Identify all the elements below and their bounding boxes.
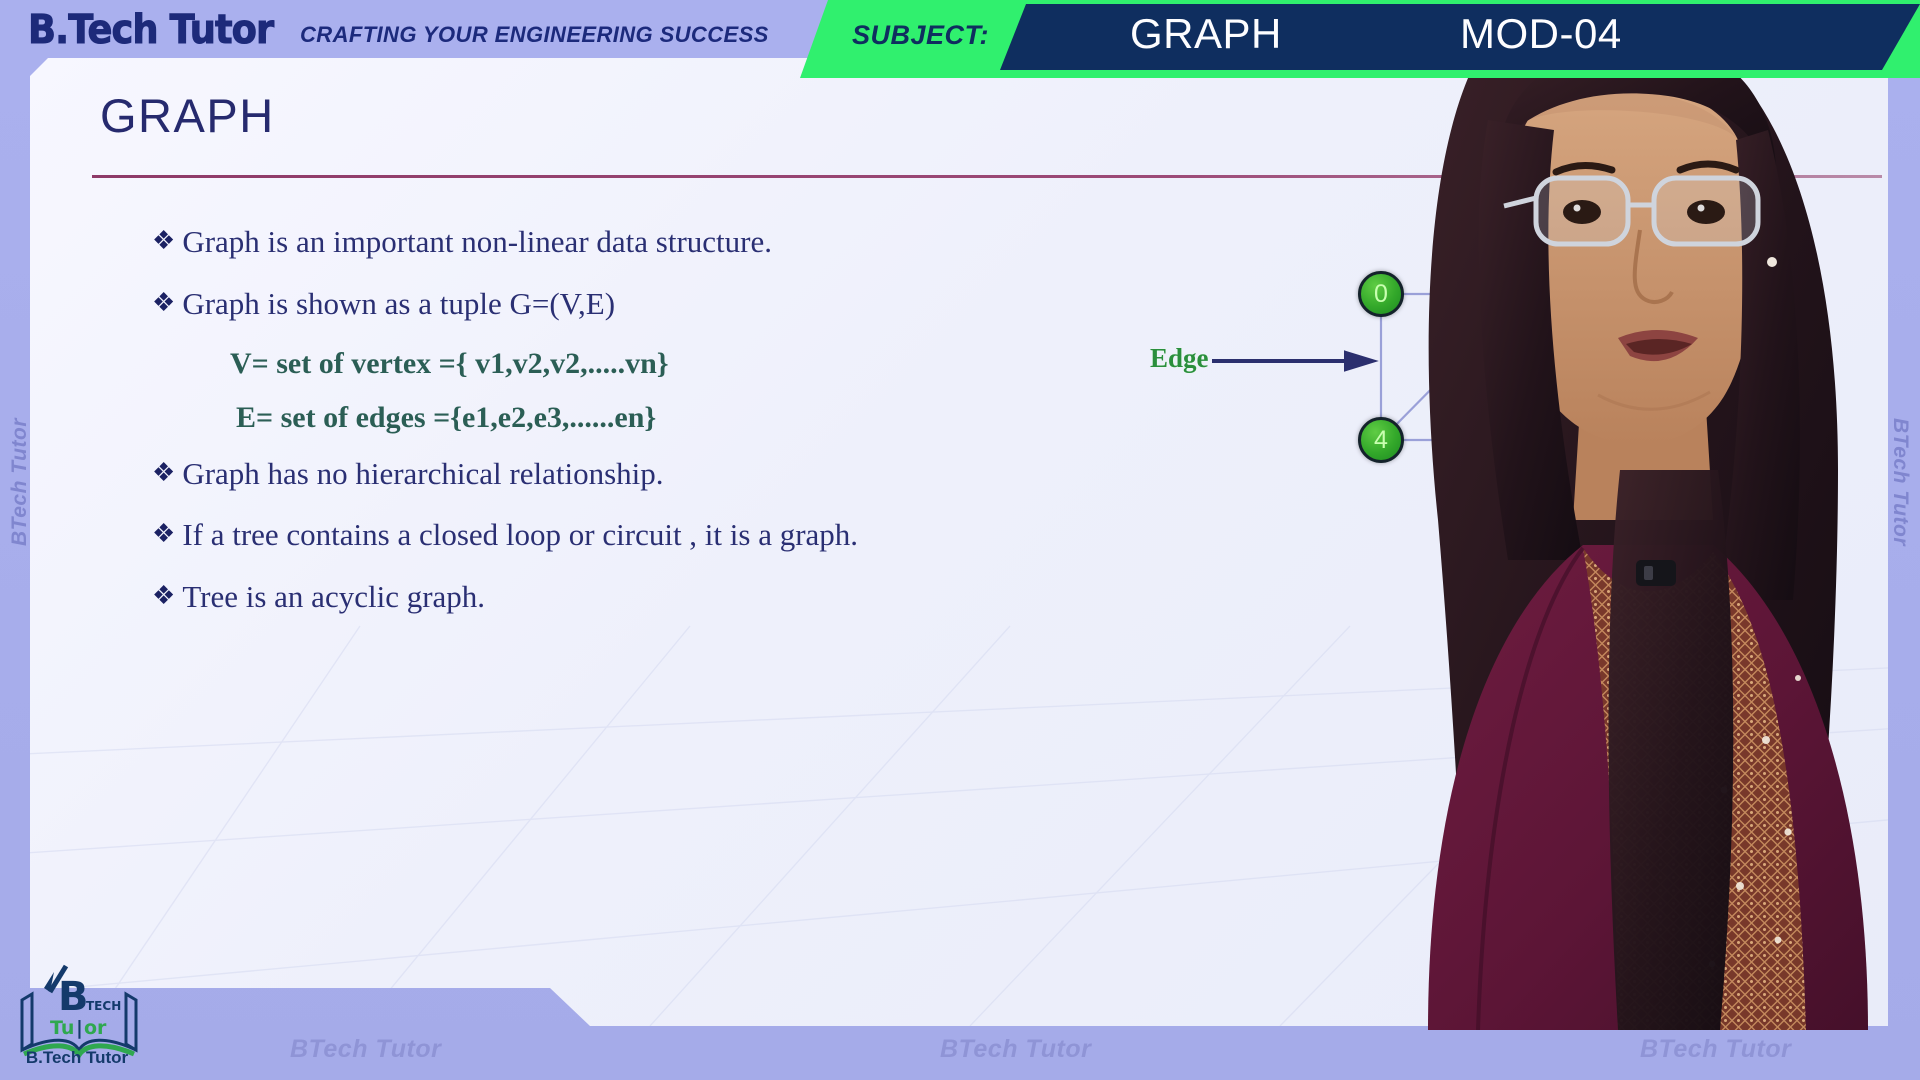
watermark-bottom: BTech Tutor — [290, 1035, 441, 1064]
presenter-video — [1368, 0, 1888, 1030]
list-item-label: Graph is an important non-linear data st… — [182, 223, 772, 261]
list-item: ❖ Graph has no hierarchical relationship… — [152, 455, 1052, 493]
list-item: ❖ Graph is shown as a tuple G=(V,E) — [152, 285, 1052, 323]
video-frame: GRAPH ❖ Graph is an important non-linear… — [0, 0, 1920, 1080]
list-item-label: Tree is an acyclic graph. — [182, 578, 485, 616]
diamond-bullet-icon: ❖ — [152, 455, 175, 490]
svg-text:Tu: Tu — [50, 1017, 74, 1039]
diamond-bullet-icon: ❖ — [152, 516, 175, 551]
svg-text:|: | — [76, 1017, 83, 1039]
list-item: ❖ Tree is an acyclic graph. — [152, 578, 1052, 616]
list-item: ❖ If a tree contains a closed loop or ci… — [152, 516, 1052, 554]
bullet-list: ❖ Graph is an important non-linear data … — [152, 223, 1052, 640]
watermark-bottom: BTech Tutor — [940, 1035, 1091, 1064]
subject-ribbon: SUBJECT: GRAPH MOD-04 — [800, 0, 1920, 78]
brand-name: B.Tech Tutor — [28, 7, 273, 53]
brand-tagline: CRAFTING YOUR ENGINEERING SUCCESS — [300, 22, 769, 48]
subject-value: GRAPH — [1130, 10, 1282, 58]
watermark-bottom: BTech Tutor — [1640, 1035, 1791, 1064]
list-item: ❖ Graph is an important non-linear data … — [152, 223, 1052, 261]
svg-text:TECH: TECH — [86, 999, 121, 1013]
diamond-bullet-icon: ❖ — [152, 223, 175, 258]
vertex-set-definition: V= set of vertex ={ v1,v2,v2,.....vn} — [230, 347, 1052, 381]
subject-label: SUBJECT: — [852, 20, 989, 51]
diamond-bullet-icon: ❖ — [152, 285, 175, 320]
watermark-right: BTech Tutor — [1888, 418, 1912, 546]
edge-set-definition: E= set of edges ={e1,e2,e3,......en} — [236, 401, 1052, 435]
edge-annotation-label: Edge — [1150, 343, 1209, 374]
module-value: MOD-04 — [1460, 10, 1622, 58]
svg-text:B: B — [58, 974, 89, 1020]
brand-logo-caption: B.Tech Tutor — [12, 1048, 142, 1068]
list-item-label: Graph is shown as a tuple G=(V,E) — [182, 285, 615, 323]
watermark-left: BTech Tutor — [8, 418, 32, 546]
svg-text:or: or — [84, 1017, 107, 1039]
page-title: GRAPH — [100, 88, 275, 143]
list-item-label: If a tree contains a closed loop or circ… — [182, 516, 858, 554]
diamond-bullet-icon: ❖ — [152, 578, 175, 613]
list-item-label: Graph has no hierarchical relationship. — [182, 455, 663, 493]
